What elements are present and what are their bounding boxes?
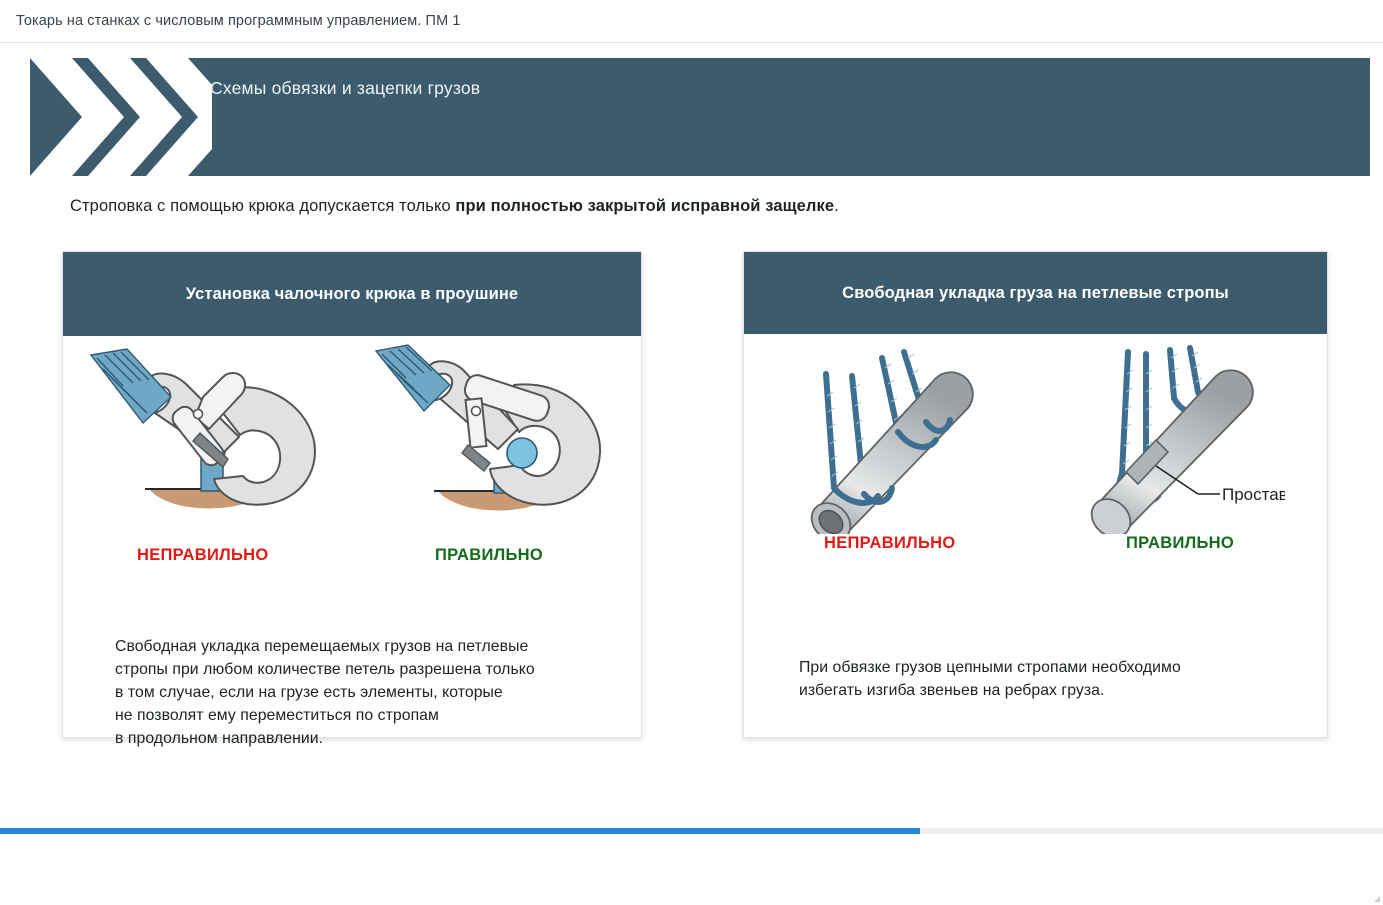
intro-plain: Строповка с помощью крюка допускается то…: [70, 197, 455, 215]
figure-row: Проставка: [744, 334, 1327, 534]
verdict-incorrect: НЕПРАВИЛЬНО: [137, 546, 269, 565]
card-body: НЕПРАВИЛЬНО ПРАВИЛЬНО Свободная укладка …: [63, 336, 641, 572]
verdict-row: НЕПРАВИЛЬНО ПРАВИЛЬНО: [744, 534, 1327, 560]
pipe-with-slings-illustration: [786, 336, 986, 534]
card-free-load-placement: Свободная укладка груза на петлевые стро…: [743, 251, 1328, 738]
card-description: При обвязке грузов цепными стропами необ…: [799, 657, 1181, 703]
verdict-correct: ПРАВИЛЬНО: [1126, 534, 1234, 553]
pipe-with-spacer-illustration: Проставка: [1070, 336, 1285, 534]
card-hook-installation: Установка чалочного крюка в проушине: [62, 251, 642, 738]
spacer-annotation-label: Проставка: [1222, 485, 1285, 504]
card-body: Проставка НЕПРАВИЛЬНО ПРАВИЛЬНО При обвя…: [744, 334, 1327, 560]
card-description: Свободная укладка перемещаемых грузов на…: [115, 636, 535, 750]
intro-paragraph: Строповка с помощью крюка допускается то…: [70, 197, 839, 216]
verdict-correct: ПРАВИЛЬНО: [435, 546, 543, 565]
hook-open-latch-illustration: [83, 341, 333, 536]
card-header: Свободная укладка груза на петлевые стро…: [744, 252, 1327, 334]
figure-row: [63, 336, 641, 536]
section-banner: Схемы обвязки и зацепки грузов: [12, 58, 1370, 176]
intro-bold: при полностью закрытой исправной защелке: [455, 197, 834, 215]
banner-background: [12, 58, 1370, 176]
footer-bar: 557 из 692 НАЗАД ДАЛЕЕ: [0, 834, 1383, 905]
chevron-right-icon: [12, 58, 212, 176]
course-title: Токарь на станках с числовым программным…: [16, 13, 461, 29]
card-header: Установка чалочного крюка в проушине: [63, 252, 641, 336]
banner-title: Схемы обвязки и зацепки грузов: [210, 78, 480, 99]
lesson-page: Токарь на станках с числовым программным…: [0, 0, 1383, 905]
intro-tail: .: [834, 197, 839, 215]
hook-closed-latch-illustration: [372, 341, 622, 536]
top-bar: Токарь на станках с числовым программным…: [0, 0, 1383, 43]
verdict-row: НЕПРАВИЛЬНО ПРАВИЛЬНО: [63, 546, 641, 572]
resize-grip-icon[interactable]: [1371, 893, 1381, 903]
verdict-incorrect: НЕПРАВИЛЬНО: [824, 534, 956, 553]
